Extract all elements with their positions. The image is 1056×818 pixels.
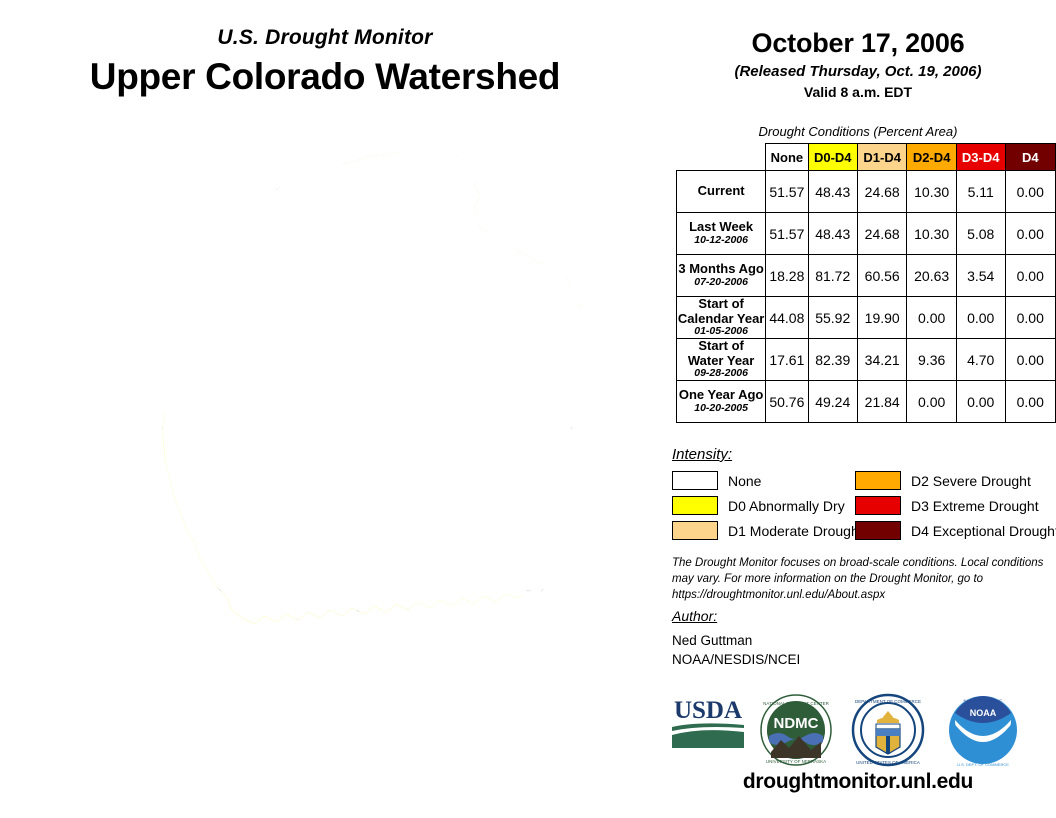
drought-map — [108, 138, 588, 818]
table-col-d4: D4 — [1005, 144, 1055, 171]
table-row: Start ofCalendar Year01-05-200644.0855.9… — [677, 297, 1056, 339]
table-cell-d2-d4: 20.63 — [907, 255, 956, 297]
row-label-text: Last Week — [677, 220, 765, 235]
table-cell-d0-d4: 82.39 — [808, 339, 857, 381]
drought-conditions-table: None D0-D4 D1-D4 D2-D4 D3-D4 D4 Current5… — [676, 143, 1056, 423]
legend-item: None — [672, 468, 855, 493]
table-row-label: Start ofWater Year09-28-2006 — [677, 339, 766, 381]
disclaimer-text: The Drought Monitor focuses on broad-sca… — [672, 556, 1056, 604]
title-subheading: U.S. Drought Monitor — [0, 26, 650, 50]
legend-swatch — [672, 521, 718, 540]
table-row: Last Week10-12-200651.5748.4324.6810.305… — [677, 213, 1056, 255]
author-name: Ned Guttman — [672, 631, 800, 650]
row-label-text: Calendar Year — [677, 312, 765, 327]
table-cell-d4: 0.00 — [1005, 297, 1055, 339]
table-cell-d0-d4: 48.43 — [808, 213, 857, 255]
row-label-text: Start of — [677, 297, 765, 312]
reservoir-detail — [160, 576, 214, 612]
table-cell-d2-d4: 0.00 — [907, 381, 956, 423]
row-label-date: 10-12-2006 — [677, 235, 765, 247]
table-cell-d0-d4: 48.43 — [808, 171, 857, 213]
table-cell-none: 18.28 — [766, 255, 808, 297]
table-cell-d1-d4: 21.84 — [857, 381, 906, 423]
legend: NoneD2 Severe DroughtD0 Abnormally DryD3… — [672, 468, 1052, 543]
author-organization: NOAA/NESDIS/NCEI — [672, 650, 800, 669]
table-col-none: None — [766, 144, 808, 171]
table-cell-d2-d4: 0.00 — [907, 297, 956, 339]
legend-title: Intensity: — [672, 446, 732, 463]
table-cell-d3-d4: 4.70 — [956, 339, 1005, 381]
table-cell-d3-d4: 5.11 — [956, 171, 1005, 213]
author-heading: Author: — [672, 608, 717, 624]
svg-text:NATIONAL DROUGHT CENTER: NATIONAL DROUGHT CENTER — [763, 701, 829, 706]
table-cell-d2-d4: 9.36 — [907, 339, 956, 381]
table-row: 3 Months Ago07-20-200618.2881.7260.5620.… — [677, 255, 1056, 297]
legend-swatch — [672, 471, 718, 490]
logo-row: USDA NDMC NATIONAL DROUGHT CENTER UNIVER… — [660, 692, 1056, 772]
table-cell-d4: 0.00 — [1005, 255, 1055, 297]
usda-logo: USDA — [669, 692, 747, 752]
table-cell-d1-d4: 19.90 — [857, 297, 906, 339]
table-cell-d4: 0.00 — [1005, 171, 1055, 213]
legend-swatch — [672, 496, 718, 515]
legend-label: None — [728, 473, 761, 489]
table-row: Current51.5748.4324.6810.305.110.00 — [677, 171, 1056, 213]
table-header-row: None D0-D4 D1-D4 D2-D4 D3-D4 D4 — [677, 144, 1056, 171]
table-cell-d2-d4: 10.30 — [907, 213, 956, 255]
table-cell-d1-d4: 34.21 — [857, 339, 906, 381]
table-cell-none: 51.57 — [766, 213, 808, 255]
legend-item: D3 Extreme Drought — [855, 493, 1038, 518]
table-cell-d3-d4: 0.00 — [956, 381, 1005, 423]
ndmc-logo: NDMC NATIONAL DROUGHT CENTER UNIVERSITY … — [758, 692, 834, 768]
table-cell-none: 44.08 — [766, 297, 808, 339]
noaa-logo: NOAA NATIONAL OCEANIC U.S. DEPT. OF COMM… — [945, 692, 1021, 768]
row-label-date: 07-20-2006 — [677, 277, 765, 289]
report-header: October 17, 2006 (Released Thursday, Oct… — [660, 28, 1056, 100]
table-cell-d1-d4: 24.68 — [857, 213, 906, 255]
table-cell-none: 51.57 — [766, 171, 808, 213]
title-main: Upper Colorado Watershed — [0, 56, 650, 98]
table-row-label: Start ofCalendar Year01-05-2006 — [677, 297, 766, 339]
table-cell-d0-d4: 81.72 — [808, 255, 857, 297]
svg-text:UNIVERSITY OF NEBRASKA: UNIVERSITY OF NEBRASKA — [766, 759, 826, 764]
author-block: Ned Guttman NOAA/NESDIS/NCEI — [672, 631, 800, 669]
doc-seal-logo: DEPARTMENT OF COMMERCE UNITED STATES OF … — [850, 692, 926, 768]
table-cell-d1-d4: 24.68 — [857, 171, 906, 213]
table-cell-d0-d4: 49.24 — [808, 381, 857, 423]
table-row-label: Last Week10-12-2006 — [677, 213, 766, 255]
table-caption: Drought Conditions (Percent Area) — [660, 124, 1056, 139]
legend-label: D4 Exceptional Drought — [911, 523, 1056, 539]
row-label-date: 01-05-2006 — [677, 326, 765, 338]
svg-text:USDA: USDA — [674, 697, 742, 724]
legend-item: D4 Exceptional Drought — [855, 518, 1038, 543]
legend-label: D2 Severe Drought — [911, 473, 1031, 489]
table-cell-d4: 0.00 — [1005, 381, 1055, 423]
table-cell-none: 50.76 — [766, 381, 808, 423]
report-date: October 17, 2006 — [660, 28, 1056, 59]
row-label-text: Start of — [677, 339, 765, 354]
row-label-date: 10-20-2005 — [677, 403, 765, 415]
table-row-label: 3 Months Ago07-20-2006 — [677, 255, 766, 297]
table-cell-d4: 0.00 — [1005, 339, 1055, 381]
table-row-label: Current — [677, 171, 766, 213]
legend-swatch — [855, 496, 901, 515]
table-col-d3d4: D3-D4 — [956, 144, 1005, 171]
table-col-d2d4: D2-D4 — [907, 144, 956, 171]
legend-item: D1 Moderate Drought — [672, 518, 855, 543]
table-cell-d4: 0.00 — [1005, 213, 1055, 255]
report-release-date: (Released Thursday, Oct. 19, 2006) — [660, 63, 1056, 80]
svg-text:UNITED STATES OF AMERICA: UNITED STATES OF AMERICA — [856, 760, 920, 765]
legend-label: D3 Extreme Drought — [911, 498, 1039, 514]
drought-monitor-page: U.S. Drought Monitor Upper Colorado Wate… — [0, 0, 1056, 816]
row-label-date: 09-28-2006 — [677, 368, 765, 380]
table-col-d1d4: D1-D4 — [857, 144, 906, 171]
svg-text:DEPARTMENT OF COMMERCE: DEPARTMENT OF COMMERCE — [855, 699, 921, 704]
svg-text:NDMC: NDMC — [774, 715, 819, 732]
table-cell-d0-d4: 55.92 — [808, 297, 857, 339]
table-cell-d1-d4: 60.56 — [857, 255, 906, 297]
legend-item: D2 Severe Drought — [855, 468, 1038, 493]
table-cell-d3-d4: 0.00 — [956, 297, 1005, 339]
page-title: U.S. Drought Monitor Upper Colorado Wate… — [0, 26, 650, 98]
row-label-text: 3 Months Ago — [677, 262, 765, 277]
row-label-text: One Year Ago — [677, 388, 765, 403]
table-cell-d3-d4: 5.08 — [956, 213, 1005, 255]
row-label-text: Water Year — [677, 354, 765, 369]
table-row: One Year Ago10-20-200550.7649.2421.840.0… — [677, 381, 1056, 423]
table-col-d0d4: D0-D4 — [808, 144, 857, 171]
table-cell-none: 17.61 — [766, 339, 808, 381]
legend-swatch — [855, 521, 901, 540]
legend-label: D1 Moderate Drought — [728, 523, 863, 539]
svg-text:U.S. DEPT. OF COMMERCE: U.S. DEPT. OF COMMERCE — [957, 762, 1009, 767]
legend-label: D0 Abnormally Dry — [728, 498, 845, 514]
report-valid-time: Valid 8 a.m. EDT — [660, 84, 1056, 100]
watershed-border — [162, 152, 588, 624]
legend-item: D0 Abnormally Dry — [672, 493, 855, 518]
table-row-label: One Year Ago10-20-2005 — [677, 381, 766, 423]
table-corner-cell — [677, 144, 766, 171]
website-url: droughtmonitor.unl.edu — [660, 770, 1056, 794]
svg-text:NATIONAL OCEANIC: NATIONAL OCEANIC — [964, 698, 1003, 703]
legend-swatch — [855, 471, 901, 490]
row-label-text: Current — [677, 184, 765, 199]
table-cell-d2-d4: 10.30 — [907, 171, 956, 213]
table-row: Start ofWater Year09-28-200617.6182.3934… — [677, 339, 1056, 381]
table-cell-d3-d4: 3.54 — [956, 255, 1005, 297]
table-body: Current51.5748.4324.6810.305.110.00Last … — [677, 171, 1056, 423]
svg-text:NOAA: NOAA — [970, 708, 997, 718]
